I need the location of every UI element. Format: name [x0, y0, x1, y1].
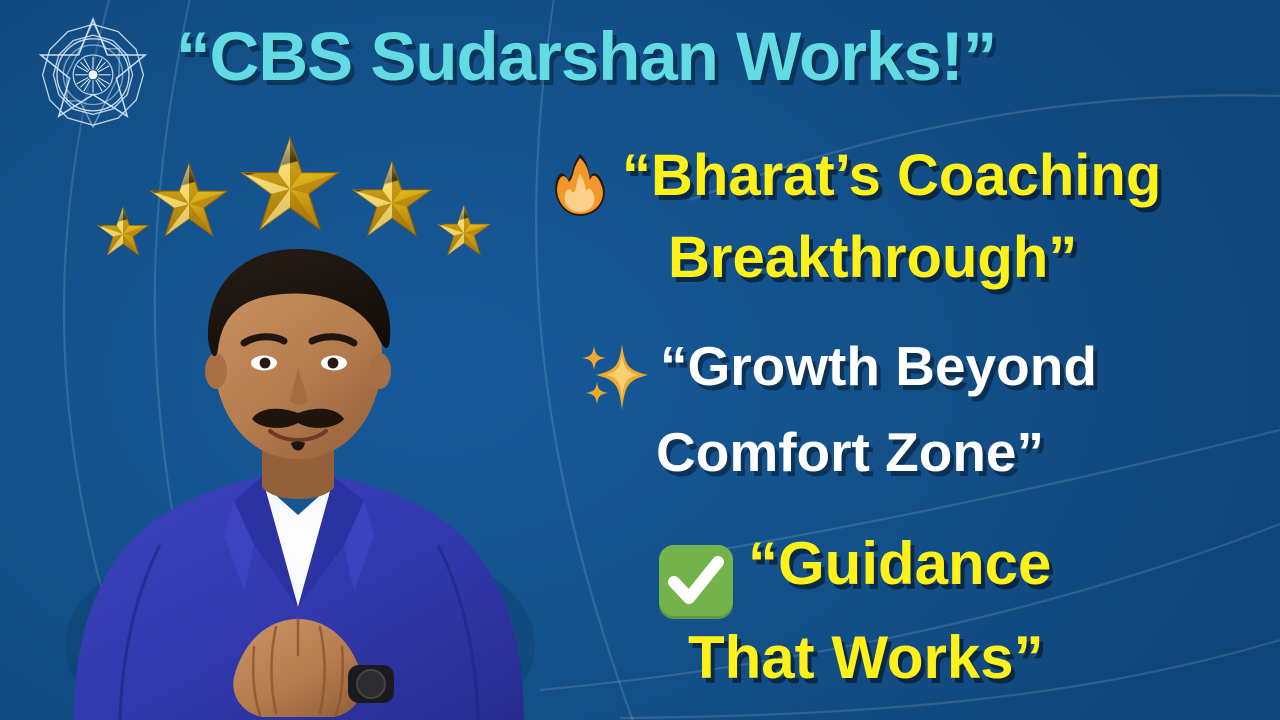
benefit-2-line-1: “Growth Beyond	[660, 338, 1097, 395]
coach-portrait	[48, 215, 548, 720]
sudarshan-chakra-mandala-logo	[18, 10, 168, 145]
check-mark-icon	[656, 542, 736, 622]
thumbnail-canvas: “CBS Sudarshan Works!” “Bharat’s Coachin…	[0, 0, 1280, 720]
sparkles-icon	[578, 340, 652, 412]
benefit-1-line-2: Breakthrough”	[668, 228, 1077, 288]
fire-icon	[548, 152, 612, 218]
benefit-2-line-2: Comfort Zone”	[656, 424, 1044, 481]
page-title: “CBS Sudarshan Works!”	[176, 22, 1266, 91]
benefit-3-line-2: That Works”	[688, 627, 1044, 689]
benefit-3-line-1: “Guidance	[748, 533, 1051, 595]
benefit-1-line-1: “Bharat’s Coaching	[622, 146, 1161, 206]
